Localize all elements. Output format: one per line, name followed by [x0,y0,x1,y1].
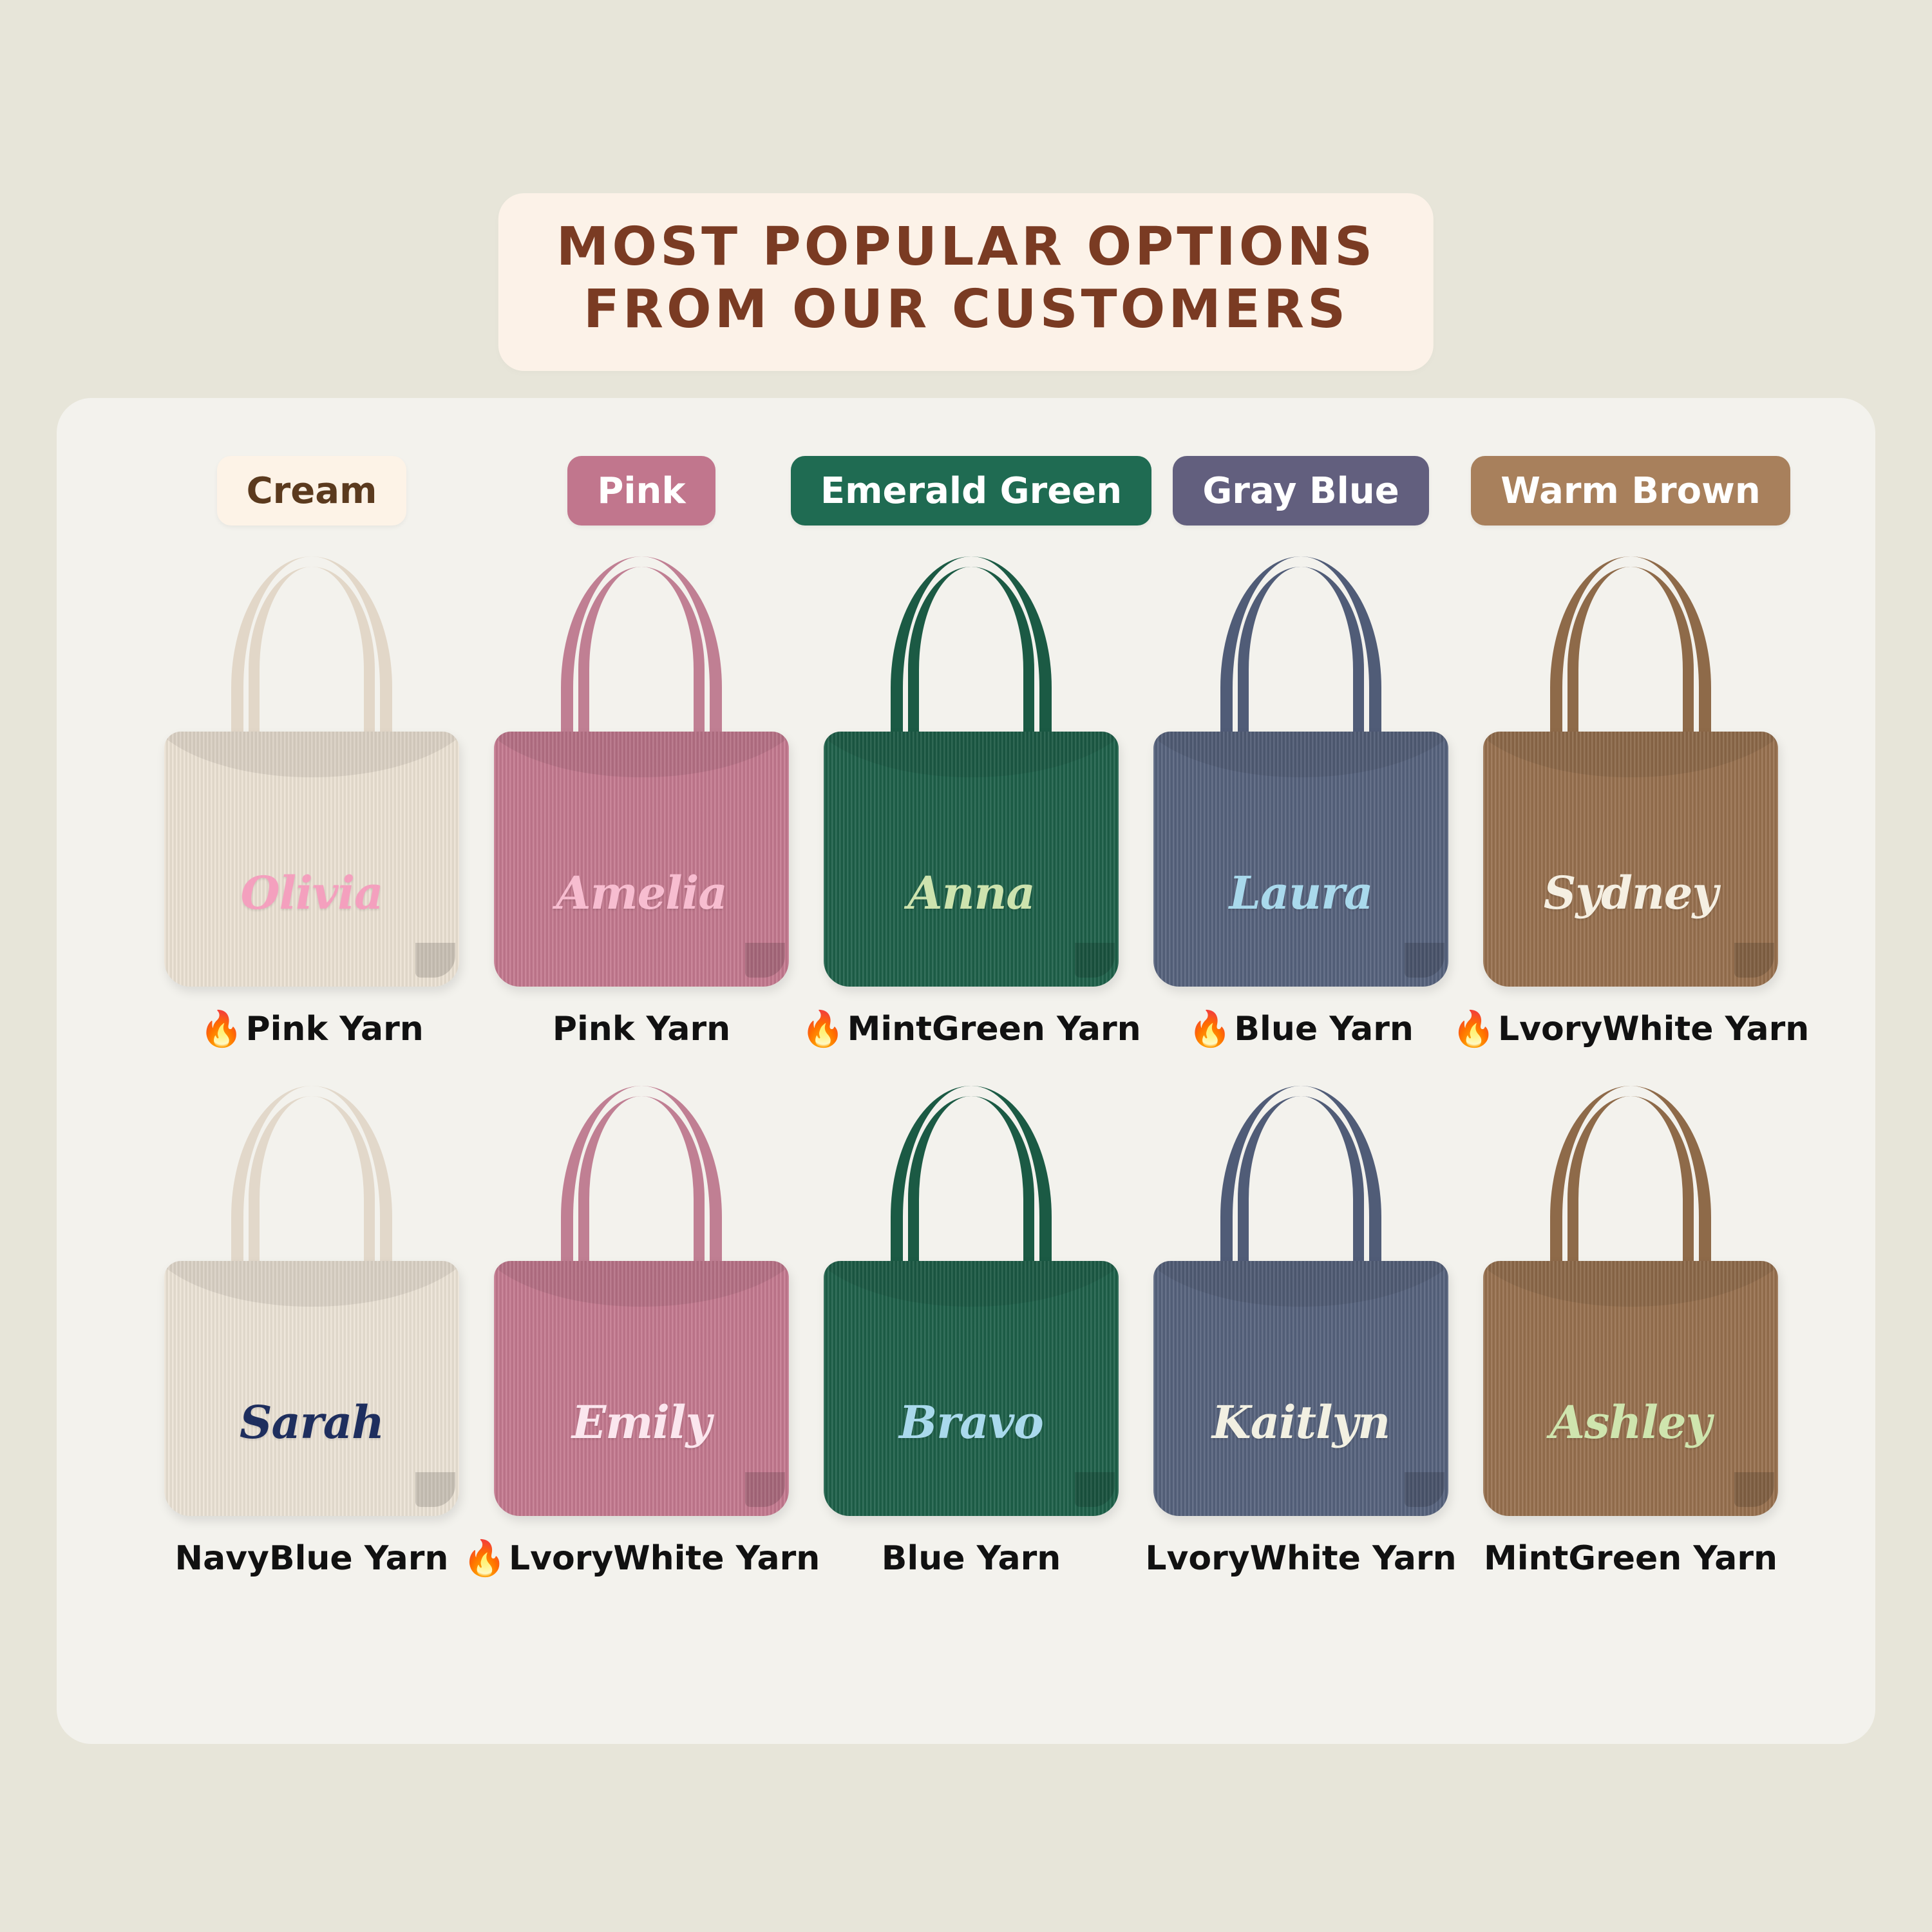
color-pill-gray-blue[interactable]: Gray Blue [1173,456,1428,526]
bag-grid: Olivia 🔥 Pink Yarn Amelia [147,547,1795,1584]
embroidered-name: Kaitlyn [1150,1396,1452,1449]
bag-cell[interactable]: Olivia 🔥 Pink Yarn [147,547,477,1055]
bag-caption-label: LvoryWhite Yarn [1498,1010,1809,1048]
bag-bottom-corner [1405,1472,1444,1507]
bag-row: Olivia 🔥 Pink Yarn Amelia [147,547,1795,1055]
bag-body [824,732,1119,987]
title-badge: MOST POPULAR OPTIONS FROM OUR CUSTOMERS [498,193,1434,371]
bag-bottom-corner [1075,943,1115,978]
bag-bottom-corner [415,1472,455,1507]
bag-body [164,1261,459,1516]
tote-bag-image: Ashley [1479,1077,1782,1528]
color-pill-cell: Cream [147,456,477,526]
fire-icon: 🔥 [1452,1012,1495,1046]
bag-bottom-corner [1405,943,1444,978]
bag-caption-label: Pink Yarn [553,1010,730,1048]
bag-handle-inner [249,567,375,760]
bag-handle-inner [1567,1096,1694,1289]
fire-icon: 🔥 [801,1012,844,1046]
tote-bag-image: Sydney [1479,547,1782,998]
bag-cell[interactable]: Anna 🔥 MintGreen Yarn [806,547,1136,1055]
bag-bottom-corner [1734,1472,1774,1507]
fire-icon: 🔥 [463,1541,506,1576]
fire-icon: 🔥 [200,1012,243,1046]
embroidered-name: Emily [490,1396,793,1449]
bag-caption: NavyBlue Yarn [175,1533,449,1584]
color-pill-cream[interactable]: Cream [217,456,407,526]
color-pill-row: Cream Pink Emerald Green Gray Blue Warm … [147,456,1795,526]
bag-caption: Blue Yarn [882,1533,1061,1584]
bag-bottom-corner [1734,943,1774,978]
tote-bag-image: Emily [490,1077,793,1528]
product-infographic: MOST POPULAR OPTIONS FROM OUR CUSTOMERS … [0,0,1932,1932]
bag-caption-label: Pink Yarn [245,1010,423,1048]
bag-body [494,1261,789,1516]
tote-bag-image: Laura [1150,547,1452,998]
embroidered-name: Amelia [490,866,793,920]
bag-caption-label: NavyBlue Yarn [175,1539,449,1578]
color-pill-cell: Pink [477,456,806,526]
bag-body [1153,1261,1448,1516]
color-pill-emerald-green[interactable]: Emerald Green [791,456,1151,526]
embroidered-name: Sarah [160,1396,463,1449]
embroidered-name: Laura [1150,866,1452,920]
fire-icon: 🔥 [1188,1012,1231,1046]
page-title-line-1: MOST POPULAR OPTIONS [556,216,1376,279]
bag-caption-label: LvoryWhite Yarn [1145,1539,1456,1578]
bag-bottom-corner [745,943,785,978]
bag-handle-inner [578,567,705,760]
bag-body [494,732,789,987]
color-pill-pink[interactable]: Pink [567,456,715,526]
bag-cell[interactable]: Emily 🔥 LvoryWhite Yarn [477,1077,806,1584]
bag-body [164,732,459,987]
color-pill-cell: Emerald Green [806,456,1136,526]
bag-handle-inner [1238,567,1364,760]
tote-bag-image: Olivia [160,547,463,998]
bag-handle-inner [1567,567,1694,760]
bag-cell[interactable]: Sarah NavyBlue Yarn [147,1077,477,1584]
tote-bag-image: Amelia [490,547,793,998]
bag-handle-inner [578,1096,705,1289]
bag-bottom-corner [745,1472,785,1507]
bag-caption-label: MintGreen Yarn [848,1010,1141,1048]
embroidered-name: Bravo [820,1396,1122,1449]
bag-handle-inner [908,1096,1034,1289]
bag-caption-label: Blue Yarn [1234,1010,1413,1048]
embroidered-name: Anna [820,866,1122,920]
embroidered-name: Olivia [160,866,463,920]
tote-bag-image: Anna [820,547,1122,998]
tote-bag-image: Kaitlyn [1150,1077,1452,1528]
bag-handle-inner [1238,1096,1364,1289]
bag-caption: 🔥 Blue Yarn [1188,1003,1414,1055]
bag-body [1483,732,1778,987]
bag-bottom-corner [415,943,455,978]
options-panel: Cream Pink Emerald Green Gray Blue Warm … [57,398,1875,1744]
bag-caption: 🔥 LvoryWhite Yarn [463,1533,820,1584]
bag-caption: LvoryWhite Yarn [1145,1533,1456,1584]
tote-bag-image: Bravo [820,1077,1122,1528]
color-pill-cell: Warm Brown [1466,456,1795,526]
bag-caption-label: Blue Yarn [882,1539,1061,1578]
bag-bottom-corner [1075,1472,1115,1507]
bag-cell[interactable]: Kaitlyn LvoryWhite Yarn [1136,1077,1466,1584]
bag-row: Sarah NavyBlue Yarn Emily � [147,1077,1795,1584]
bag-cell[interactable]: Amelia Pink Yarn [477,547,806,1055]
page-title-line-2: FROM OUR CUSTOMERS [556,279,1376,341]
bag-body [824,1261,1119,1516]
bag-handle-inner [249,1096,375,1289]
color-pill-warm-brown[interactable]: Warm Brown [1471,456,1790,526]
embroidered-name: Sydney [1479,866,1782,920]
bag-cell[interactable]: Bravo Blue Yarn [806,1077,1136,1584]
bag-cell[interactable]: Sydney 🔥 LvoryWhite Yarn [1466,547,1795,1055]
bag-caption-label: LvoryWhite Yarn [509,1539,820,1578]
bag-caption: 🔥 MintGreen Yarn [801,1003,1141,1055]
tote-bag-image: Sarah [160,1077,463,1528]
bag-handle-inner [908,567,1034,760]
bag-caption: 🔥 Pink Yarn [200,1003,424,1055]
embroidered-name: Ashley [1479,1396,1782,1449]
bag-cell[interactable]: Laura 🔥 Blue Yarn [1136,547,1466,1055]
color-pill-cell: Gray Blue [1136,456,1466,526]
bag-caption: 🔥 LvoryWhite Yarn [1452,1003,1810,1055]
bag-cell[interactable]: Ashley MintGreen Yarn [1466,1077,1795,1584]
bag-caption-label: MintGreen Yarn [1484,1539,1777,1578]
bag-caption: MintGreen Yarn [1484,1533,1777,1584]
bag-body [1483,1261,1778,1516]
bag-body [1153,732,1448,987]
bag-caption: Pink Yarn [553,1003,730,1055]
